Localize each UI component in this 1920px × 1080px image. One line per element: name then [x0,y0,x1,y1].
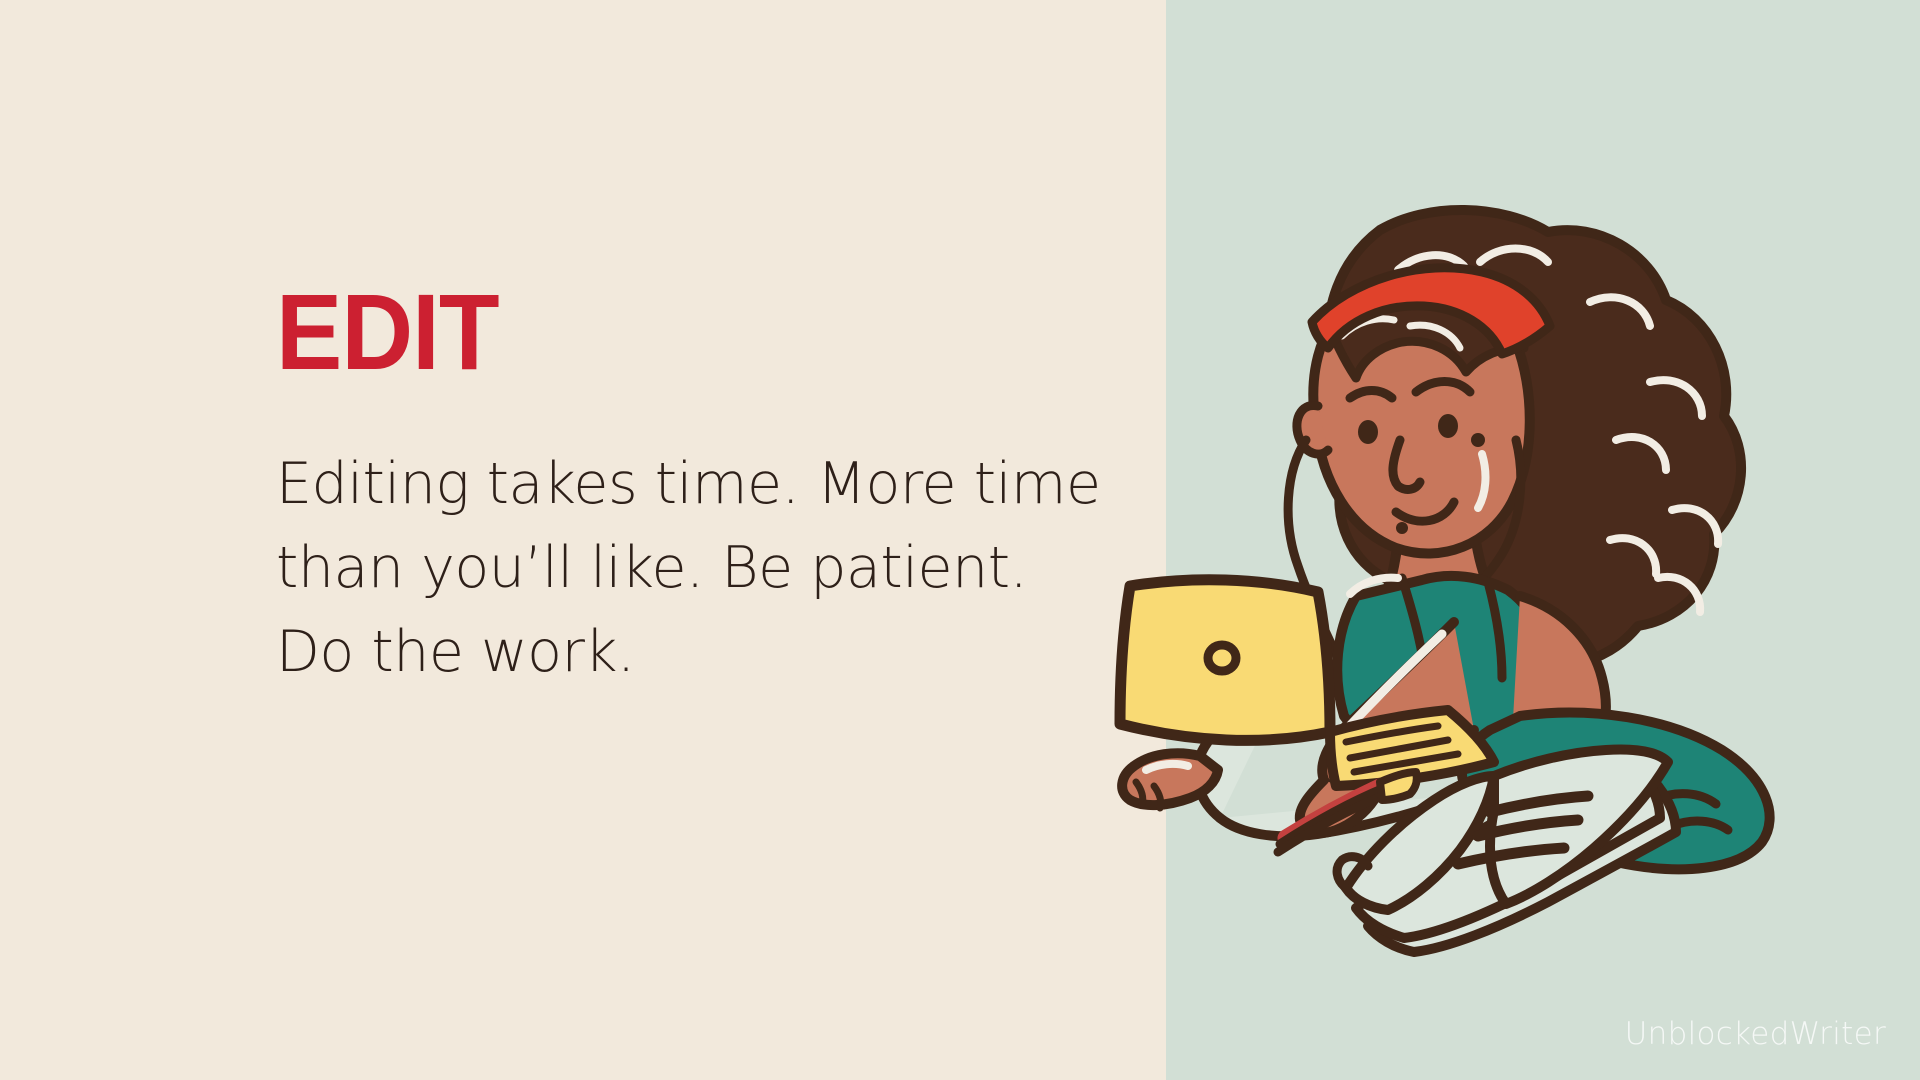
page-title: EDIT [276,280,1058,384]
body-paragraph: Editing takes time. More time than you’l… [276,442,1116,695]
text-block: EDIT Editing takes time. More time than … [276,280,1126,695]
watermark-label: UnblockedWriter [1625,1016,1886,1052]
slide-canvas: EDIT Editing takes time. More time than … [0,0,1920,1080]
illustration-woman-typing-on-laptop [1050,110,1920,960]
